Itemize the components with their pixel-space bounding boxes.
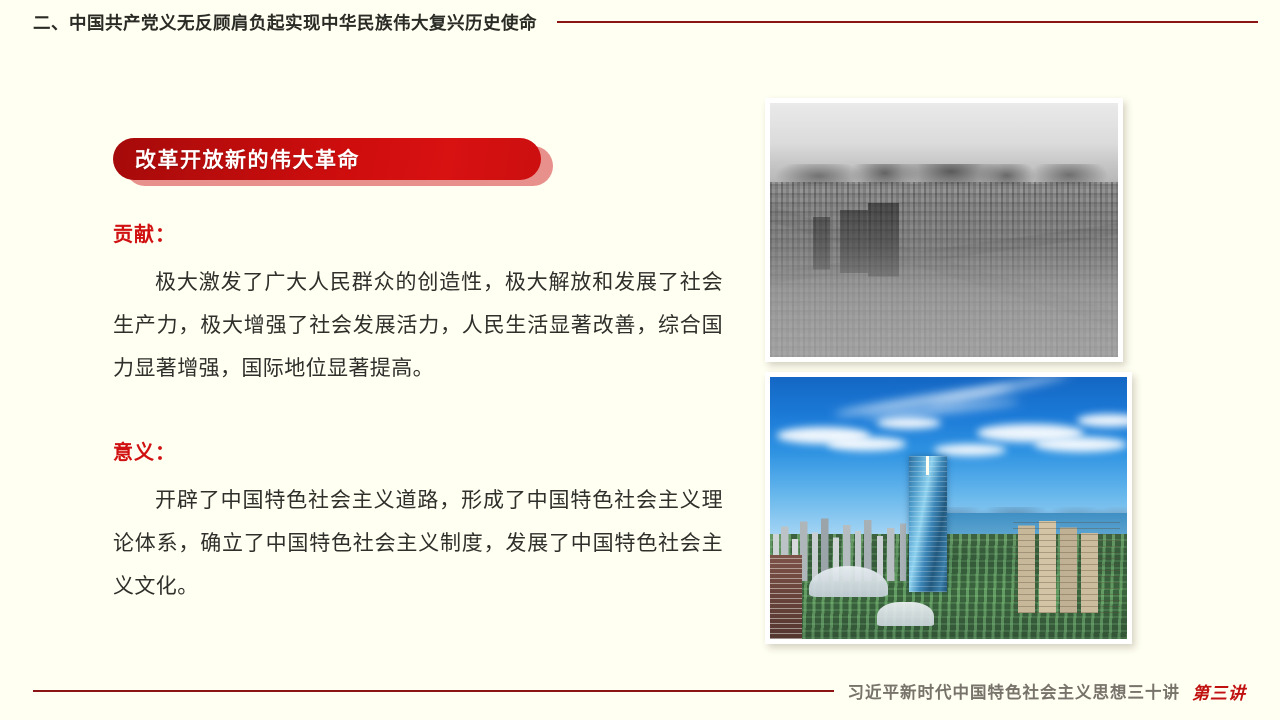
slide-header: 二、中国共产党义无反顾肩负起实现中华民族伟大复兴历史使命: [0, 0, 1280, 44]
section-contribution: 贡献： 极大激发了广大人民群众的创造性，极大解放和发展了社会生产力，极大增强了社…: [113, 218, 723, 390]
section-body-significance: 开辟了中国特色社会主义道路，形成了中国特色社会主义理论体系，确立了中国特色社会主…: [113, 479, 723, 608]
exhibition-roof-two: [877, 602, 934, 626]
section-heading-significance: 意义：: [113, 436, 723, 465]
page-title: 二、中国共产党义无反顾肩负起实现中华民族伟大复兴历史使命: [33, 10, 537, 35]
right-residential-towers: [1013, 518, 1120, 612]
section-body-contribution: 极大激发了广大人民群众的创造性，极大解放和发展了社会生产力，极大增强了社会发展活…: [113, 261, 723, 390]
section-heading-contribution: 贡献：: [113, 218, 723, 247]
foreground-brown-block: [770, 555, 802, 639]
banner-pill: 改革开放新的伟大革命: [113, 138, 541, 180]
photo-historic-shenzhen-aerial: [765, 98, 1123, 362]
footer-series-title: 习近平新时代中国特色社会主义思想三十讲: [848, 679, 1181, 703]
header-divider: [557, 21, 1258, 23]
section-significance: 意义： 开辟了中国特色社会主义道路，形成了中国特色社会主义理论体系，确立了中国特…: [113, 436, 723, 608]
content-column: 贡献： 极大激发了广大人民群众的创造性，极大解放和发展了社会生产力，极大增强了社…: [113, 218, 723, 608]
landmark-glass-tower: [909, 456, 946, 592]
photo-modern-inner: [770, 377, 1127, 639]
slide-root: 二、中国共产党义无反顾肩负起实现中华民族伟大复兴历史使命 改革开放新的伟大革命 …: [0, 0, 1280, 720]
banner-label: 改革开放新的伟大革命: [135, 144, 360, 174]
modern-skyline-image: [770, 377, 1127, 639]
slide-footer: 习近平新时代中国特色社会主义思想三十讲 第三讲: [0, 662, 1280, 720]
footer-lecture-label: 第三讲: [1192, 679, 1246, 704]
historic-aerial-image: [770, 103, 1118, 357]
photo-historic-inner: [770, 103, 1118, 357]
photo-modern-shenzhen-skyline: [765, 372, 1132, 644]
footer-divider: [33, 690, 834, 692]
section-banner: 改革开放新的伟大革命: [113, 138, 553, 186]
